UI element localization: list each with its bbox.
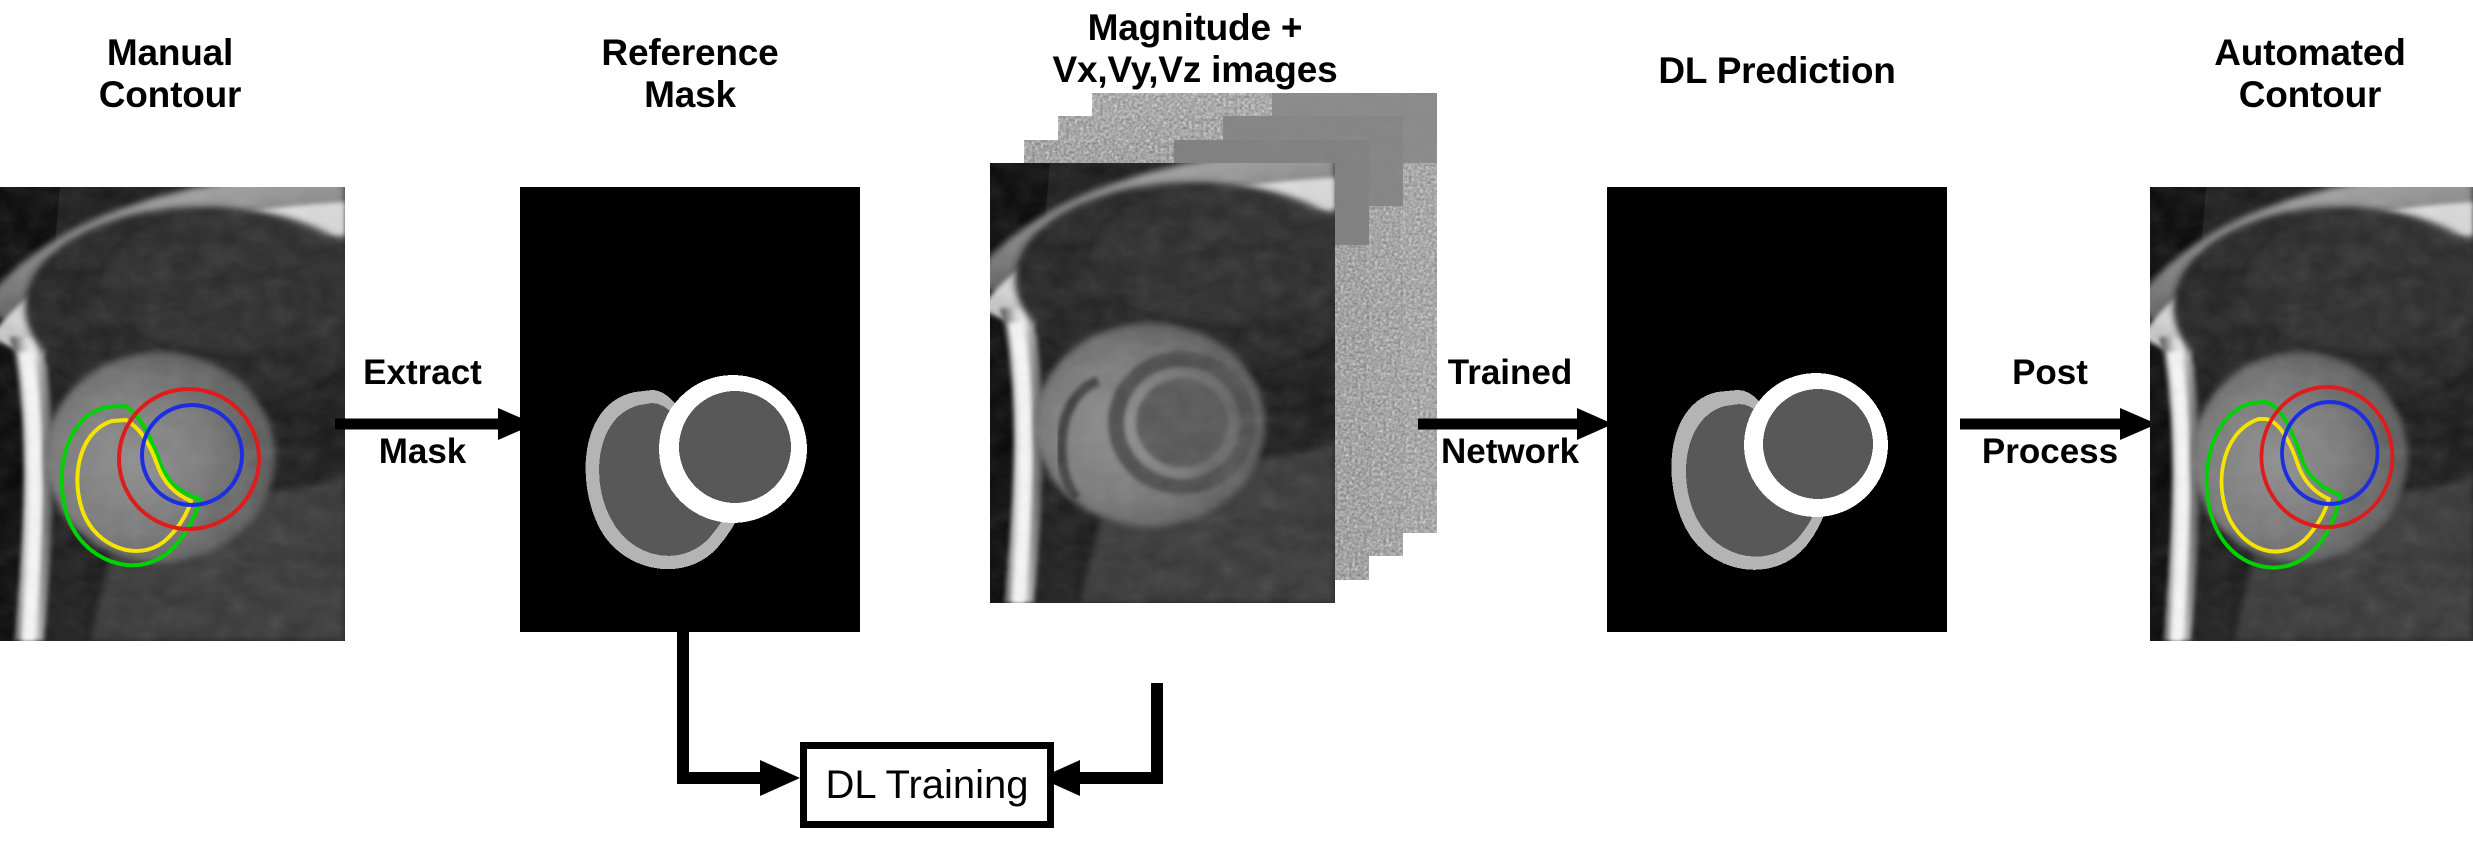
arrow-label-post-process-below: Process xyxy=(1955,434,2145,471)
stage-title-manual-contour: Manual Contour xyxy=(0,32,370,116)
stage-title-automated-contour: Automated Contour xyxy=(2110,32,2473,116)
workflow-diagram: Manual Contour xyxy=(0,0,2473,842)
arrow-trained-network-shaft xyxy=(1415,355,1615,495)
stage-title-line2: Contour xyxy=(0,74,370,116)
stage-title-input-images: Magnitude + Vx,Vy,Vz images xyxy=(980,7,1410,91)
arrow-label-trained-network-below: Network xyxy=(1415,434,1605,471)
arrow-trained-network: Trained Network xyxy=(1415,355,1615,495)
dl-prediction-image xyxy=(1607,187,1947,632)
stage-title-line1: DL Prediction xyxy=(1577,50,1977,92)
stage-title-line1: Automated xyxy=(2110,32,2473,74)
stage-title-line2: Mask xyxy=(490,74,890,116)
connector-reference-mask-to-training xyxy=(683,632,800,796)
dl-training-box[interactable]: DL Training xyxy=(800,742,1054,828)
arrow-extract-mask-shaft xyxy=(330,355,535,495)
arrow-post-process: Post Process xyxy=(1955,355,2160,495)
magnitude-image xyxy=(990,163,1335,603)
stage-title-line1: Magnitude + xyxy=(980,7,1410,49)
automated-contour-image xyxy=(2150,187,2473,641)
stage-title-reference-mask: Reference Mask xyxy=(490,32,890,116)
stage-title-line2: Vx,Vy,Vz images xyxy=(980,49,1410,91)
manual-contour-image xyxy=(0,187,345,641)
arrow-extract-mask: Extract Mask xyxy=(330,355,535,495)
stage-title-line1: Manual xyxy=(0,32,370,74)
stage-title-line1: Reference xyxy=(490,32,890,74)
reference-mask-image xyxy=(520,187,860,632)
arrow-post-process-shaft xyxy=(1955,355,2160,495)
dl-training-label: DL Training xyxy=(825,763,1028,808)
stage-title-dl-prediction: DL Prediction xyxy=(1577,50,1977,92)
stage-title-line2: Contour xyxy=(2110,74,2473,116)
arrow-label-extract-mask-below: Mask xyxy=(330,434,515,471)
connector-input-images-to-training xyxy=(1040,683,1157,796)
